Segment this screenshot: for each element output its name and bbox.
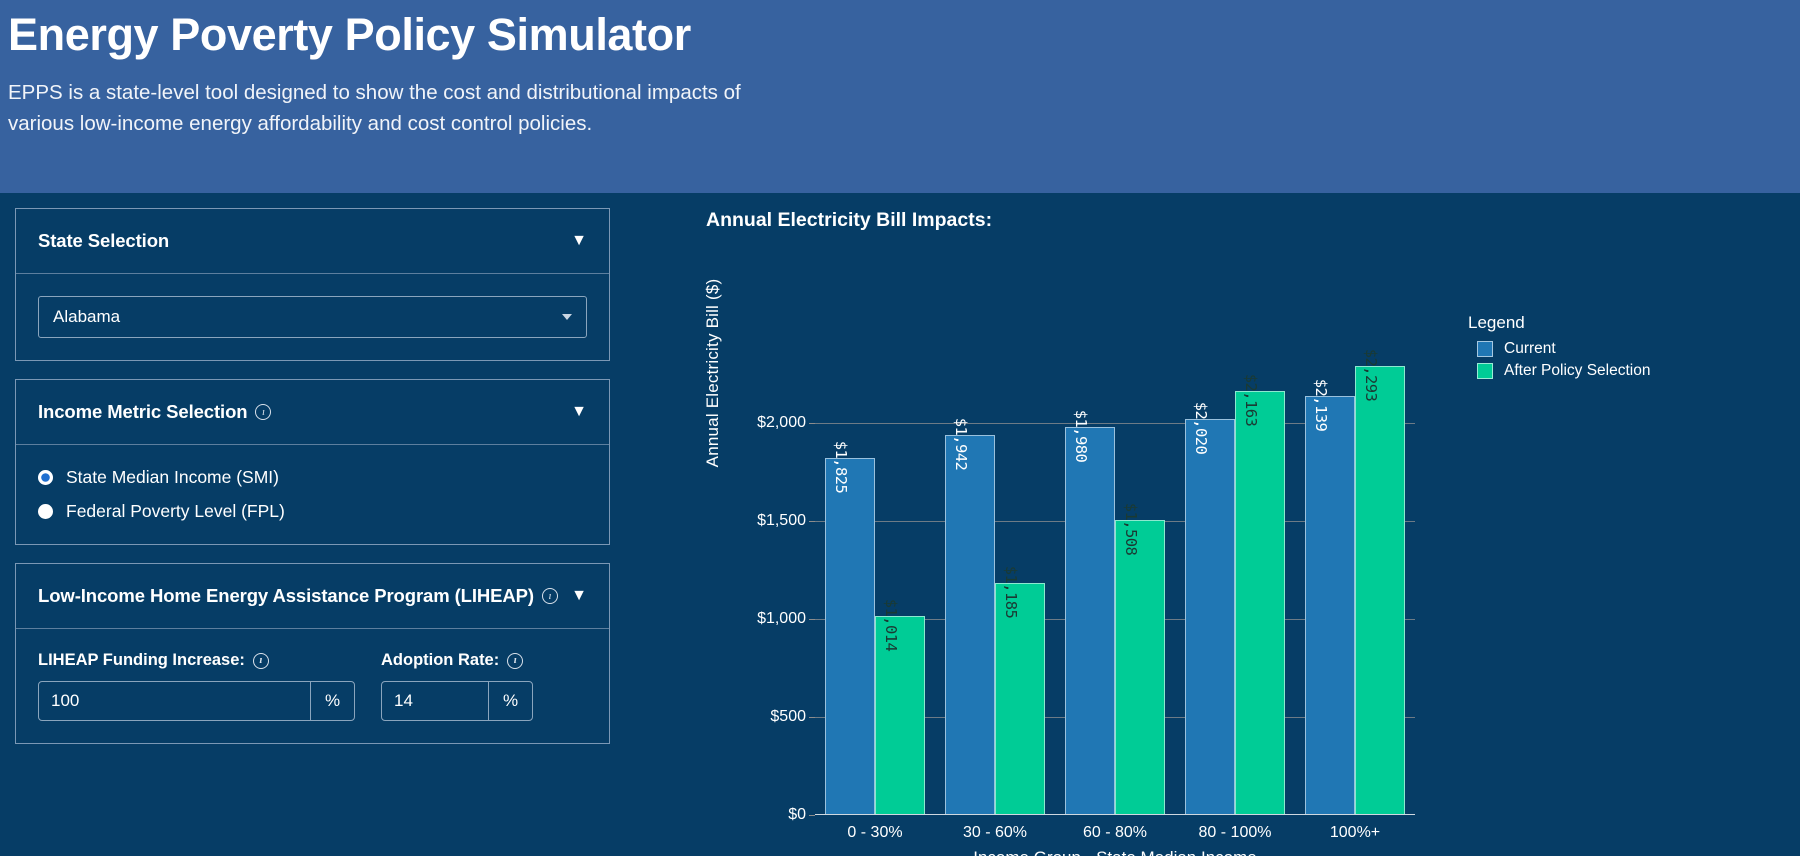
percent-unit-label: % xyxy=(488,682,532,720)
bar-value-label: $1,185 xyxy=(1002,566,1020,618)
bar-value-label: $1,825 xyxy=(832,440,850,492)
chart-x-axis xyxy=(815,814,1415,816)
x-axis-tick-label: 60 - 80% xyxy=(1083,824,1147,842)
adoption-rate-label: Adoption Rate: xyxy=(381,651,499,670)
income-metric-title: Income Metric Selection xyxy=(38,401,247,423)
legend-item[interactable]: Current xyxy=(1468,340,1650,358)
chevron-down-icon[interactable]: ▼ xyxy=(571,233,587,249)
state-selection-title: State Selection xyxy=(38,230,169,252)
liheap-funding-increase-field: LIHEAP Funding Increase: ı % xyxy=(38,651,355,721)
page-title: Energy Poverty Policy Simulator xyxy=(8,0,1800,61)
chart-bar[interactable]: $2,139 xyxy=(1305,396,1355,815)
radio-option-fpl[interactable]: Federal Poverty Level (FPL) xyxy=(38,501,587,522)
x-axis-tick-label: 80 - 100% xyxy=(1199,824,1272,842)
controls-sidebar: State Selection ▼ Alabama Income Metric … xyxy=(0,193,625,856)
chevron-down-icon[interactable]: ▼ xyxy=(571,588,587,604)
bar-value-label: $1,980 xyxy=(1072,410,1090,462)
bar-value-label: $1,508 xyxy=(1122,502,1140,554)
legend-items: CurrentAfter Policy Selection xyxy=(1468,340,1650,380)
adoption-rate-field: Adoption Rate: ı % xyxy=(381,651,533,721)
chart-bar[interactable]: $1,980 xyxy=(1065,427,1115,815)
bar-value-label: $1,014 xyxy=(882,599,900,651)
y-axis-tick-label: $0 xyxy=(788,806,815,824)
dropdown-arrow-icon[interactable] xyxy=(562,314,572,320)
percent-unit-label: % xyxy=(310,682,354,720)
income-metric-panel: Income Metric Selection ı ▼ State Median… xyxy=(15,379,610,545)
y-axis-tick-label: $500 xyxy=(770,708,815,726)
chart-bar-groups: $1,825$1,0140 - 30%$1,942$1,18530 - 60%$… xyxy=(815,345,1415,815)
legend-item[interactable]: After Policy Selection xyxy=(1468,362,1650,380)
liheap-panel: Low-Income Home Energy Assistance Progra… xyxy=(15,563,610,744)
chart-bar[interactable]: $2,163 xyxy=(1235,391,1285,815)
adoption-rate-label-row: Adoption Rate: ı xyxy=(381,651,533,670)
income-metric-body: State Median Income (SMI) Federal Povert… xyxy=(16,445,609,544)
x-axis-tick-label: 100%+ xyxy=(1330,824,1380,842)
income-metric-header[interactable]: Income Metric Selection ı ▼ xyxy=(16,380,609,445)
liheap-funding-increase-input[interactable] xyxy=(39,682,310,720)
liheap-header[interactable]: Low-Income Home Energy Assistance Progra… xyxy=(16,564,609,629)
state-selection-header[interactable]: State Selection ▼ xyxy=(16,209,609,274)
chart-bar-group: $2,020$2,16380 - 100% xyxy=(1175,345,1295,815)
chevron-down-icon[interactable]: ▼ xyxy=(571,404,587,420)
liheap-title: Low-Income Home Energy Assistance Progra… xyxy=(38,585,534,607)
state-select[interactable]: Alabama xyxy=(38,296,587,338)
liheap-fields: LIHEAP Funding Increase: ı % Adoption Ra… xyxy=(38,651,587,721)
radio-option-smi[interactable]: State Median Income (SMI) xyxy=(38,467,587,488)
chart-bar[interactable]: $1,942 xyxy=(945,435,995,815)
chart-bar[interactable]: $1,825 xyxy=(825,458,875,815)
y-axis-tick-label: $1,000 xyxy=(757,610,815,628)
chart-bar[interactable]: $1,508 xyxy=(1115,520,1165,815)
legend-title: Legend xyxy=(1468,313,1650,333)
chart-y-axis-label: Annual Electricity Bill ($) xyxy=(703,253,723,493)
bar-value-label: $2,139 xyxy=(1312,379,1330,431)
radio-smi-indicator[interactable] xyxy=(38,470,53,485)
page-description: EPPS is a state-level tool designed to s… xyxy=(8,77,768,139)
chart-bar[interactable]: $2,020 xyxy=(1185,419,1235,815)
x-axis-tick-label: 0 - 30% xyxy=(847,824,902,842)
legend-swatch xyxy=(1477,363,1493,379)
chart-region: Annual Electricity Bill Impacts: Annual … xyxy=(625,193,1800,856)
liheap-funding-increase-input-group[interactable]: % xyxy=(38,681,355,721)
chart-x-axis-label: Income Group - State Median Income xyxy=(815,848,1415,856)
chart-bar-group: $1,980$1,50860 - 80% xyxy=(1055,345,1175,815)
adoption-rate-input-group[interactable]: % xyxy=(381,681,533,721)
info-icon[interactable]: ı xyxy=(255,404,271,420)
radio-fpl-label: Federal Poverty Level (FPL) xyxy=(66,501,285,522)
chart-title: Annual Electricity Bill Impacts: xyxy=(706,209,992,232)
info-icon[interactable]: ı xyxy=(542,588,558,604)
bar-value-label: $2,020 xyxy=(1192,402,1210,454)
bar-value-label: $2,163 xyxy=(1242,374,1260,426)
radio-smi-label: State Median Income (SMI) xyxy=(66,467,279,488)
state-select-value: Alabama xyxy=(53,307,120,327)
legend-swatch xyxy=(1477,341,1493,357)
x-axis-tick-label: 30 - 60% xyxy=(963,824,1027,842)
radio-fpl-indicator[interactable] xyxy=(38,504,53,519)
info-icon[interactable]: ı xyxy=(253,653,269,669)
legend-label: After Policy Selection xyxy=(1504,362,1650,380)
bar-value-label: $2,293 xyxy=(1362,349,1380,401)
y-axis-tick-label: $1,500 xyxy=(757,512,815,530)
chart-bar[interactable]: $1,014 xyxy=(875,616,925,815)
info-icon[interactable]: ı xyxy=(507,653,523,669)
chart-plot-area: $0$500$1,000$1,500$2,000 $1,825$1,0140 -… xyxy=(815,345,1415,815)
page-body: State Selection ▼ Alabama Income Metric … xyxy=(0,193,1800,856)
chart-bar-group: $2,139$2,293100%+ xyxy=(1295,345,1415,815)
liheap-funding-increase-label: LIHEAP Funding Increase: xyxy=(38,651,245,670)
adoption-rate-input[interactable] xyxy=(382,682,488,720)
liheap-body: LIHEAP Funding Increase: ı % Adoption Ra… xyxy=(16,629,609,743)
chart-bar-group: $1,825$1,0140 - 30% xyxy=(815,345,935,815)
bar-value-label: $1,942 xyxy=(952,418,970,470)
chart-bar[interactable]: $1,185 xyxy=(995,583,1045,815)
legend-label: Current xyxy=(1504,340,1556,358)
chart-bar-group: $1,942$1,18530 - 60% xyxy=(935,345,1055,815)
chart-legend: Legend CurrentAfter Policy Selection xyxy=(1468,313,1650,384)
liheap-funding-increase-label-row: LIHEAP Funding Increase: ı xyxy=(38,651,355,670)
state-selection-panel: State Selection ▼ Alabama xyxy=(15,208,610,361)
app-header: Energy Poverty Policy Simulator EPPS is … xyxy=(0,0,1800,193)
y-axis-tick-label: $2,000 xyxy=(757,414,815,432)
chart-bar[interactable]: $2,293 xyxy=(1355,366,1405,815)
state-selection-body: Alabama xyxy=(16,274,609,360)
